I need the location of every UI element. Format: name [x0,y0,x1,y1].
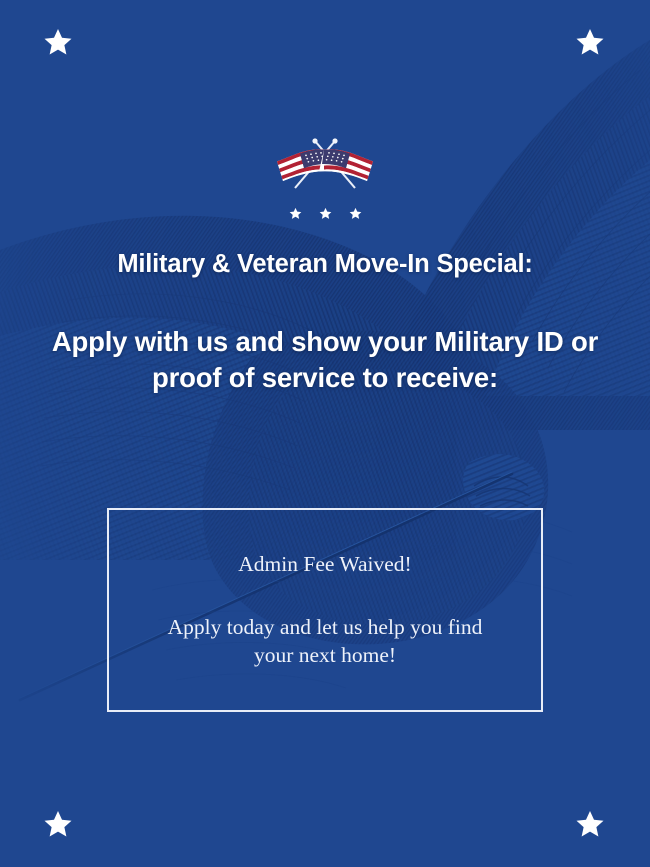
mini-star-row [289,204,362,222]
offer-box: Admin Fee Waived! Apply today and let us… [107,508,543,712]
offer-call-to-action-line-1: Apply today and let us help you find [135,613,515,642]
mini-star-1-icon [289,207,302,220]
offer-call-to-action: Apply today and let us help you find you… [135,613,515,671]
promo-instructions-line-1: Apply with us and show your Military ID … [45,324,605,360]
crossed-us-flags-icon [273,138,377,194]
offer-call-to-action-line-2: your next home! [135,641,515,670]
headline-block: Military & Veteran Move-In Special: Appl… [45,248,605,397]
offer-headline: Admin Fee Waived! [238,550,411,579]
poster-content: Military & Veteran Move-In Special: Appl… [0,0,650,867]
promo-title: Military & Veteran Move-In Special: [45,248,605,281]
mini-star-3-icon [349,207,362,220]
mini-star-2-icon [319,207,332,220]
promo-instructions-line-2: proof of service to receive: [45,360,605,396]
promotional-poster: Military & Veteran Move-In Special: Appl… [0,0,650,867]
promo-instructions: Apply with us and show your Military ID … [45,324,605,397]
